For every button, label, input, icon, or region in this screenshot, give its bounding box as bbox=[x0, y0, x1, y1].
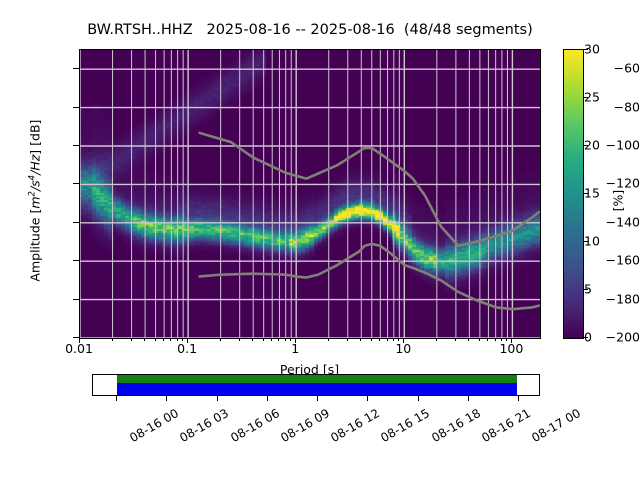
x-tick-mark bbox=[347, 338, 348, 341]
x-tick-mark bbox=[436, 338, 437, 341]
colorbar-label: [%] bbox=[611, 161, 626, 241]
x-tick-label: 1 bbox=[265, 341, 325, 356]
y-tick-mark bbox=[73, 222, 79, 223]
colorbar-tick-mark bbox=[583, 97, 588, 98]
timeline-tick-mark bbox=[518, 396, 519, 401]
timeline-tick-mark bbox=[166, 396, 167, 401]
timeline-tick-label: 08-16 18 bbox=[429, 406, 483, 445]
timeline-tick-mark bbox=[468, 396, 469, 401]
x-tick-mark bbox=[220, 338, 221, 341]
x-tick-mark bbox=[263, 338, 264, 341]
timeline-tick-mark bbox=[367, 396, 368, 401]
x-tick-mark bbox=[155, 338, 156, 341]
timeline-tick-mark bbox=[116, 396, 117, 401]
timeline-tick-mark bbox=[317, 396, 318, 401]
x-tick-mark bbox=[468, 338, 469, 341]
x-tick-mark bbox=[455, 338, 456, 341]
x-tick-mark bbox=[144, 338, 145, 341]
x-tick-mark bbox=[131, 338, 132, 341]
timeline-tick-label: 08-16 03 bbox=[178, 406, 232, 445]
timeline-tick-mark bbox=[418, 396, 419, 401]
y-tick-mark bbox=[73, 183, 79, 184]
x-tick-mark bbox=[328, 338, 329, 341]
colorbar-tick-mark bbox=[583, 49, 588, 50]
ppsd-overlay-lines bbox=[80, 50, 540, 338]
timeline-tick-label: 08-17 00 bbox=[529, 406, 583, 445]
x-tick-mark bbox=[479, 338, 480, 341]
timeline-tick-label: 08-16 21 bbox=[479, 406, 533, 445]
x-tick-mark bbox=[112, 338, 113, 341]
ppsd-figure: BW.RTSH..HHZ 2025-08-16 -- 2025-08-16 (4… bbox=[0, 0, 640, 480]
timeline-tick-label: 08-16 09 bbox=[278, 406, 332, 445]
ppsd-plot-area[interactable] bbox=[79, 49, 541, 339]
y-tick-mark bbox=[73, 145, 79, 146]
y-tick-mark bbox=[73, 68, 79, 69]
colorbar-tick-mark bbox=[583, 289, 588, 290]
x-tick-label: 100 bbox=[481, 341, 541, 356]
y-tick-mark bbox=[73, 299, 79, 300]
data-coverage-bar[interactable] bbox=[92, 374, 540, 396]
x-tick-label: 0.1 bbox=[157, 341, 217, 356]
x-tick-label: 0.01 bbox=[49, 341, 109, 356]
timeline-tick-label: 08-16 00 bbox=[127, 406, 181, 445]
coverage-green bbox=[117, 375, 517, 383]
colorbar-tick-mark bbox=[583, 337, 588, 338]
x-tick-mark bbox=[360, 338, 361, 341]
timeline-tick-label: 08-16 15 bbox=[379, 406, 433, 445]
figure-title: BW.RTSH..HHZ 2025-08-16 -- 2025-08-16 (4… bbox=[0, 22, 620, 38]
timeline-tick-mark bbox=[217, 396, 218, 401]
colorbar-tick-mark bbox=[583, 193, 588, 194]
y-tick-mark bbox=[73, 107, 79, 108]
colorbar bbox=[563, 49, 584, 339]
x-tick-mark bbox=[252, 338, 253, 341]
x-tick-mark bbox=[239, 338, 240, 341]
colorbar-tick-mark bbox=[583, 241, 588, 242]
coverage-blue bbox=[117, 383, 517, 395]
timeline-tick-label: 08-16 12 bbox=[328, 406, 382, 445]
y-tick-mark bbox=[73, 260, 79, 261]
x-tick-label: 10 bbox=[373, 341, 433, 356]
timeline-ticks bbox=[92, 396, 542, 402]
x-tick-mark bbox=[371, 338, 372, 341]
y-axis-label-text: Amplitude [m2/s4/Hz] [dB] bbox=[28, 120, 43, 282]
timeline-tick-label: 08-16 06 bbox=[228, 406, 282, 445]
colorbar-tick-mark bbox=[583, 145, 588, 146]
timeline-tick-mark bbox=[267, 396, 268, 401]
y-axis-label: Amplitude [m2/s4/Hz] [dB] bbox=[27, 81, 42, 321]
